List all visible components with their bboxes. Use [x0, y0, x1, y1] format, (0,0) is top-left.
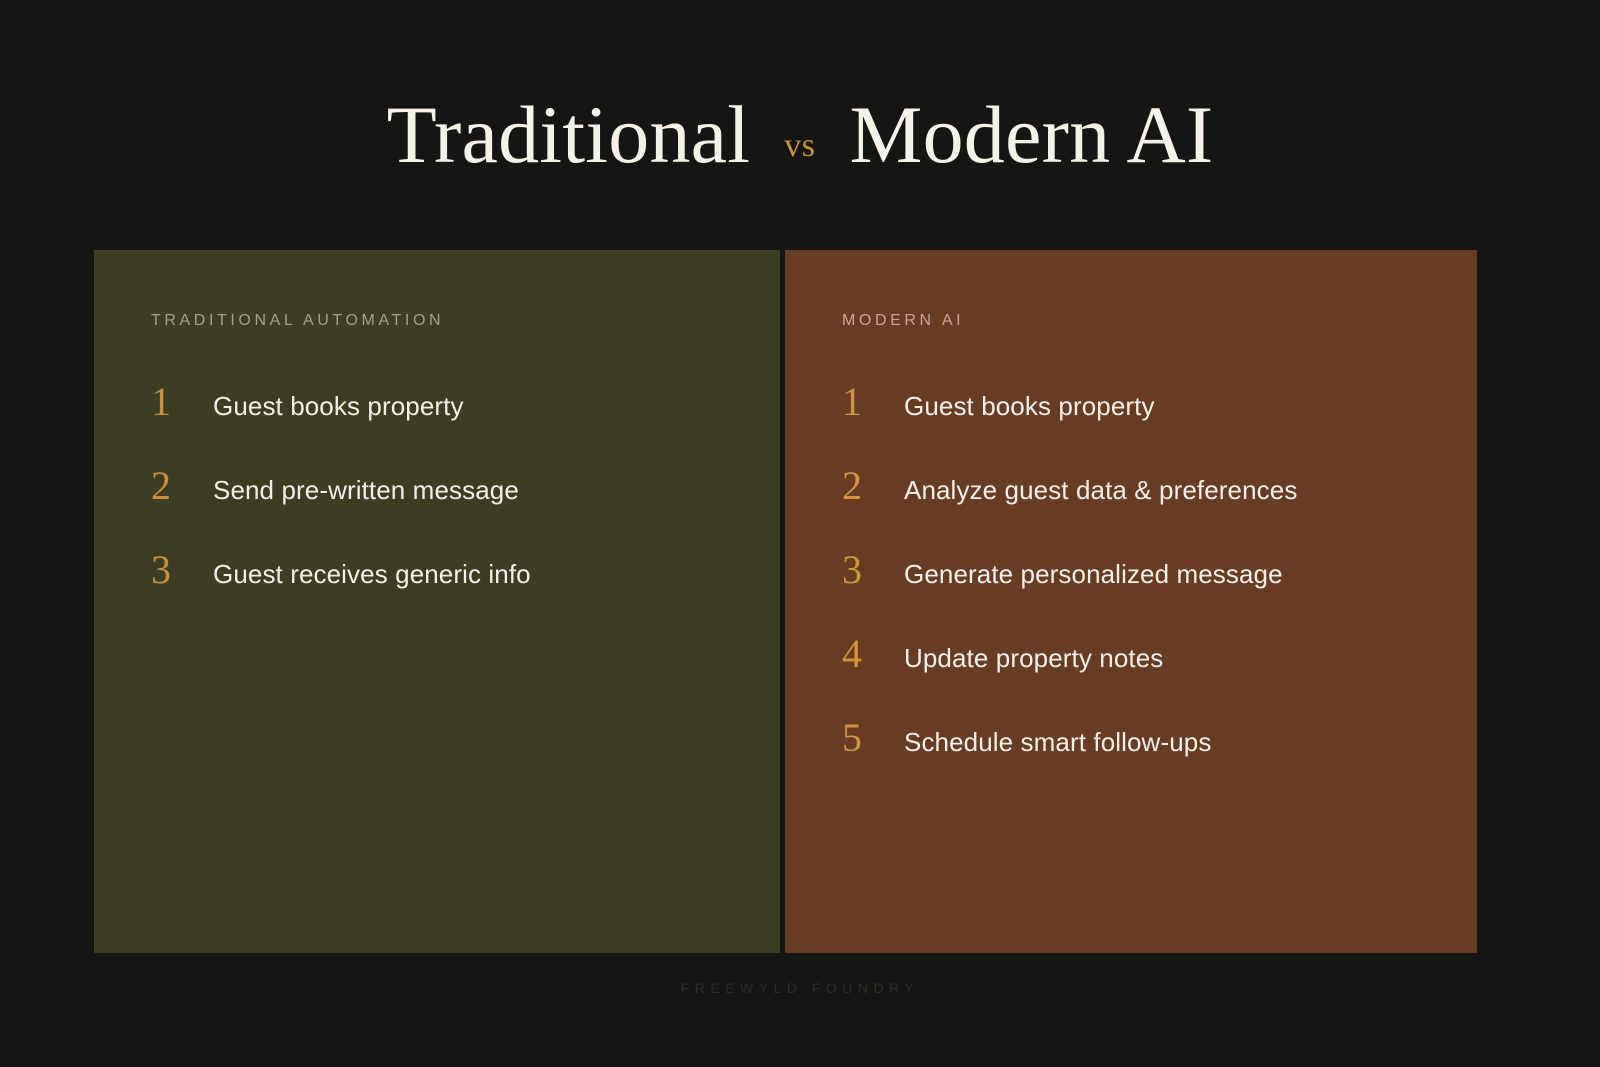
- list-item: 4 Update property notes: [842, 634, 1477, 718]
- step-number: 1: [151, 382, 213, 422]
- panel-label-traditional-automation: TRADITIONAL AUTOMATION: [151, 312, 780, 330]
- page-title: Traditional vs Modern AI: [0, 0, 1600, 250]
- steps-list-modern-ai: 1 Guest books property 2 Analyze guest d…: [842, 382, 1477, 802]
- comparison-panels: TRADITIONAL AUTOMATION 1 Guest books pro…: [94, 250, 1477, 953]
- title-left-word: Traditional: [387, 94, 751, 176]
- step-number: 1: [842, 382, 904, 422]
- step-number: 2: [842, 466, 904, 506]
- step-number: 5: [842, 718, 904, 758]
- step-label: Schedule smart follow-ups: [904, 729, 1211, 755]
- step-label: Analyze guest data & preferences: [904, 477, 1297, 503]
- list-item: 3 Guest receives generic info: [151, 550, 780, 634]
- footer: FREEWYLD FOUNDRY: [0, 980, 1600, 998]
- step-number: 2: [151, 466, 213, 506]
- list-item: 3 Generate personalized message: [842, 550, 1477, 634]
- panel-label-modern-ai: MODERN AI: [842, 312, 1477, 330]
- panel-modern-ai: MODERN AI 1 Guest books property 2 Analy…: [785, 250, 1477, 953]
- list-item: 1 Guest books property: [842, 382, 1477, 466]
- footer-brand-text: FREEWYLD FOUNDRY: [681, 980, 920, 996]
- title-right-word: Modern AI: [849, 94, 1213, 176]
- list-item: 2 Send pre-written message: [151, 466, 780, 550]
- step-number: 3: [151, 550, 213, 590]
- list-item: 2 Analyze guest data & preferences: [842, 466, 1477, 550]
- step-label: Update property notes: [904, 645, 1163, 671]
- list-item: 1 Guest books property: [151, 382, 780, 466]
- steps-list-traditional-automation: 1 Guest books property 2 Send pre-writte…: [151, 382, 780, 634]
- step-number: 4: [842, 634, 904, 674]
- list-item: 5 Schedule smart follow-ups: [842, 718, 1477, 802]
- step-label: Guest books property: [904, 393, 1155, 419]
- title-row: Traditional vs Modern AI: [387, 94, 1214, 176]
- step-label: Guest receives generic info: [213, 561, 531, 587]
- step-number: 3: [842, 550, 904, 590]
- title-versus-separator: vs: [750, 129, 849, 163]
- panel-traditional-automation: TRADITIONAL AUTOMATION 1 Guest books pro…: [94, 250, 780, 953]
- step-label: Generate personalized message: [904, 561, 1283, 587]
- step-label: Guest books property: [213, 393, 464, 419]
- step-label: Send pre-written message: [213, 477, 519, 503]
